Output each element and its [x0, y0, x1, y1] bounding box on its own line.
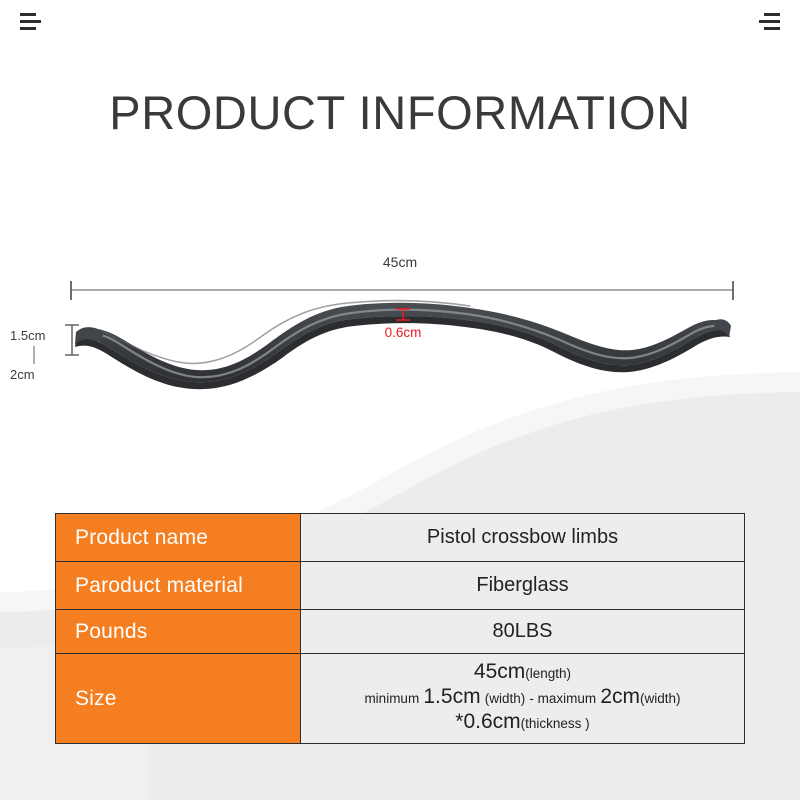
size-line-length: 45cm(length)	[311, 660, 734, 685]
width-max-label: 1.5cm	[10, 328, 45, 343]
table-row-product-name: Product name Pistol crossbow limbs	[56, 514, 745, 562]
size-width-max: 2cm	[600, 685, 640, 708]
size-length-unit: (length)	[525, 666, 571, 681]
deco-bar	[759, 20, 780, 23]
spec-label-product-material: Paroduct material	[56, 562, 301, 610]
size-width-prefix: minimum	[364, 691, 419, 706]
table-row-size: Size 45cm(length) minimum 1.5cm (width) …	[56, 654, 745, 744]
length-dimension-label: 45cm	[383, 254, 417, 270]
spec-value-size: 45cm(length) minimum 1.5cm (width) - max…	[301, 654, 745, 744]
size-width-max-unit: (width)	[640, 691, 681, 706]
hamburger-lines-icon-left	[20, 13, 41, 30]
page-title: PRODUCT INFORMATION	[0, 88, 800, 137]
size-width-min-unit: (width)	[485, 691, 526, 706]
spec-label-size: Size	[56, 654, 301, 744]
product-dimension-diagram: 45cm 1.5cm 2cm 0.6cm	[0, 240, 800, 410]
spec-value-product-material: Fiberglass	[301, 562, 745, 610]
table-row-pounds: Pounds 80LBS	[56, 610, 745, 654]
deco-bar	[20, 20, 41, 23]
table-row-product-material: Paroduct material Fiberglass	[56, 562, 745, 610]
spec-label-pounds: Pounds	[56, 610, 301, 654]
deco-bar	[764, 27, 780, 30]
spec-value-pounds: 80LBS	[301, 610, 745, 654]
deco-bar	[20, 27, 36, 30]
product-specification-table: Product name Pistol crossbow limbs Parod…	[55, 513, 745, 744]
hamburger-lines-icon-right	[759, 13, 780, 30]
spec-label-product-name: Product name	[56, 514, 301, 562]
size-thickness-unit: (thickness )	[521, 716, 590, 731]
width-min-label: 2cm	[10, 367, 35, 382]
size-width-min: 1.5cm	[423, 685, 480, 708]
deco-bar	[20, 13, 36, 16]
thickness-dimension-label: 0.6cm	[385, 325, 422, 340]
size-length-value: 45cm	[474, 660, 525, 683]
length-dimension-line	[71, 281, 733, 300]
spec-value-product-name: Pistol crossbow limbs	[301, 514, 745, 562]
size-line-width: minimum 1.5cm (width) - maximum 2cm(widt…	[311, 685, 734, 710]
size-width-separator: - maximum	[529, 691, 596, 706]
size-thickness-value: *0.6cm	[455, 710, 520, 733]
size-line-thickness: *0.6cm(thickness )	[311, 710, 734, 735]
deco-bar	[764, 13, 780, 16]
